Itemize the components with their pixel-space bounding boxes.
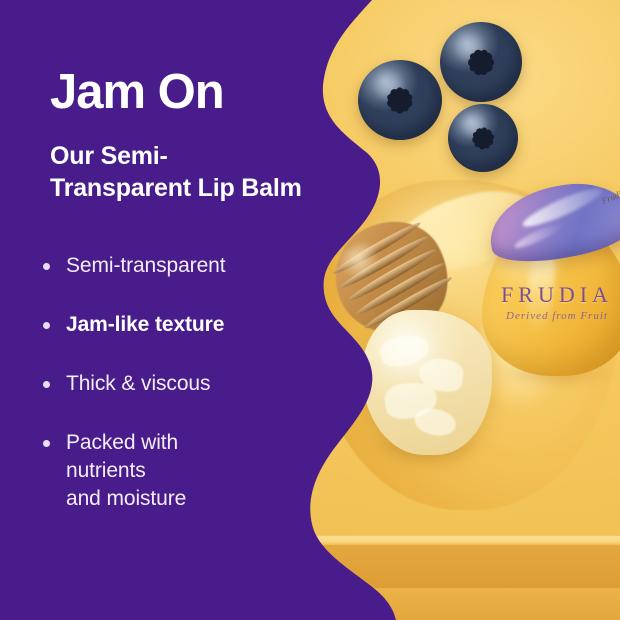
list-item: Semi-transparent (40, 252, 330, 280)
feature-list: Semi-transparent Jam-like texture Thick … (40, 252, 330, 513)
feature-label: Semi-transparent (66, 252, 330, 280)
subtitle-line-1: Our Semi- (50, 140, 330, 172)
cap-script-text: Frudia (600, 187, 620, 206)
list-item: Thick & viscous (40, 370, 330, 398)
feature-label: Packed with (66, 429, 330, 457)
bullet-dot-icon (43, 322, 50, 329)
page-title: Jam On (50, 68, 224, 117)
subtitle-line-2: Transparent Lip Balm (50, 172, 330, 204)
jar-brand-tagline: Derived from Fruit (482, 310, 620, 322)
lip-balm-jar: FRUDIA Derived from Fruit Frudia (482, 186, 620, 376)
bullet-dot-icon (43, 381, 50, 388)
text-column: Jam On Our Semi- Transparent Lip Balm Se… (0, 0, 330, 620)
list-item: Jam-like texture (40, 311, 330, 339)
blueberry (448, 104, 518, 172)
blueberry-calyx (471, 126, 495, 149)
feature-label-line3: and moisture (66, 485, 330, 513)
product-marketing-banner: FRUDIA Derived from Fruit Frudia Jam On … (0, 0, 620, 620)
shelf-lower-shade (300, 588, 620, 620)
blueberry (358, 60, 442, 140)
feature-label: Thick & viscous (66, 370, 330, 398)
bullet-dot-icon (43, 263, 50, 270)
feature-label-line2: nutrients (66, 457, 330, 485)
blueberry-calyx (386, 86, 415, 113)
page-subtitle: Our Semi- Transparent Lip Balm (50, 140, 330, 204)
blueberry-calyx (467, 48, 495, 75)
feature-label: Jam-like texture (66, 311, 330, 339)
blueberry (440, 22, 522, 102)
bullet-dot-icon (43, 440, 50, 447)
jar-brand-name: FRUDIA (482, 282, 620, 308)
list-item: Packed with nutrients and moisture (40, 429, 330, 513)
